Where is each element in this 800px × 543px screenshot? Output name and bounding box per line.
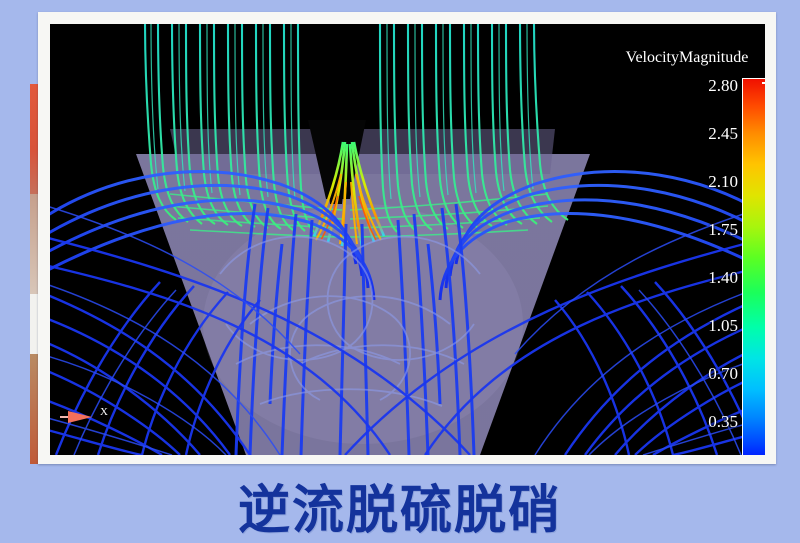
axis-indicator: X bbox=[58, 406, 118, 428]
figure-caption: 逆流脱硫脱硝 bbox=[0, 468, 800, 542]
colorbar-tick: 1.40 bbox=[674, 268, 738, 288]
colorbar-gradient bbox=[742, 78, 765, 455]
colorbar-tick: 0.35 bbox=[674, 412, 738, 432]
colorbar-max-tick-mark bbox=[762, 82, 765, 84]
screenshot-root: X VelocityMagnitude 2.80 2.45 2.10 1.75 … bbox=[0, 0, 800, 542]
colorbar-tick: 1.75 bbox=[674, 220, 738, 240]
colorbar-tick: 0.70 bbox=[674, 364, 738, 384]
legend-title: VelocityMagnitude bbox=[572, 49, 765, 67]
image-frame: X VelocityMagnitude 2.80 2.45 2.10 1.75 … bbox=[38, 12, 776, 464]
colorbar-tick: 1.05 bbox=[674, 316, 738, 336]
colorbar-tick: 2.80 bbox=[674, 76, 738, 96]
streamline-canvas bbox=[50, 24, 765, 455]
colorbar-tick: 2.10 bbox=[674, 172, 738, 192]
colorbar-tick-labels: 2.80 2.45 2.10 1.75 1.40 1.05 0.70 0.35 … bbox=[674, 72, 738, 455]
render-viewport: X VelocityMagnitude 2.80 2.45 2.10 1.75 … bbox=[50, 24, 765, 455]
color-legend: VelocityMagnitude 2.80 2.45 2.10 1.75 1.… bbox=[692, 44, 765, 455]
axis-x-label: X bbox=[100, 406, 108, 418]
cfd-scene bbox=[50, 24, 765, 455]
colorbar-tick: 2.45 bbox=[674, 124, 738, 144]
